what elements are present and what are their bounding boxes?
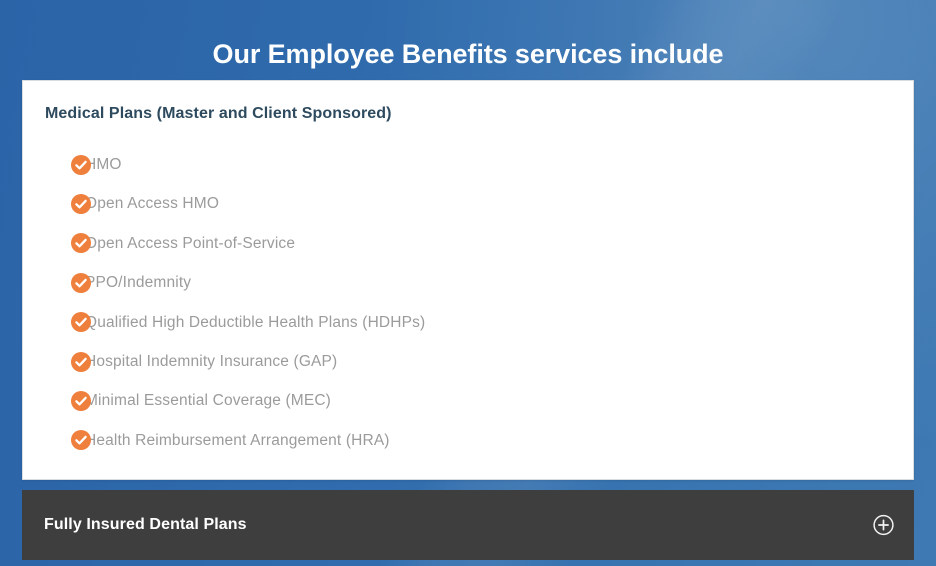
list-item-label: Qualified High Deductible Health Plans (… xyxy=(85,315,425,331)
check-circle-icon xyxy=(71,391,91,411)
plan-list: HMO Open Access HMO Op xyxy=(23,145,913,460)
check-circle-icon xyxy=(71,155,91,175)
list-item-label: Open Access HMO xyxy=(85,196,219,212)
list-item: Open Access Point-of-Service xyxy=(23,224,913,263)
check-circle-icon xyxy=(71,430,91,450)
check-circle-icon xyxy=(71,194,91,214)
plus-circle-icon[interactable] xyxy=(873,515,894,536)
list-item-label: Open Access Point-of-Service xyxy=(85,236,295,252)
accordion-panel-medical-plans: Medical Plans (Master and Client Sponsor… xyxy=(22,80,914,480)
accordion-panel-heading[interactable]: Medical Plans (Master and Client Sponsor… xyxy=(45,105,392,123)
check-circle-icon xyxy=(71,312,91,332)
benefits-accordion-page: Our Employee Benefits services include M… xyxy=(0,0,936,566)
list-item-label: PPO/Indemnity xyxy=(85,275,191,291)
check-circle-icon xyxy=(71,233,91,253)
list-item-label: Health Reimbursement Arrangement (HRA) xyxy=(85,433,390,449)
list-item-label: Hospital Indemnity Insurance (GAP) xyxy=(85,354,337,370)
list-item: Minimal Essential Coverage (MEC) xyxy=(23,381,913,420)
list-item: Health Reimbursement Arrangement (HRA) xyxy=(23,421,913,460)
accordion-panel-fully-insured-dental-plans[interactable]: Fully Insured Dental Plans xyxy=(22,490,914,560)
list-item: Qualified High Deductible Health Plans (… xyxy=(23,303,913,342)
list-item: PPO/Indemnity xyxy=(23,263,913,302)
list-item-label: Minimal Essential Coverage (MEC) xyxy=(85,393,331,409)
list-item: Hospital Indemnity Insurance (GAP) xyxy=(23,342,913,381)
check-circle-icon xyxy=(71,273,91,293)
list-item: HMO xyxy=(23,145,913,184)
check-circle-icon xyxy=(71,352,91,372)
list-item: Open Access HMO xyxy=(23,184,913,223)
accordion-panel-title: Fully Insured Dental Plans xyxy=(44,516,247,534)
